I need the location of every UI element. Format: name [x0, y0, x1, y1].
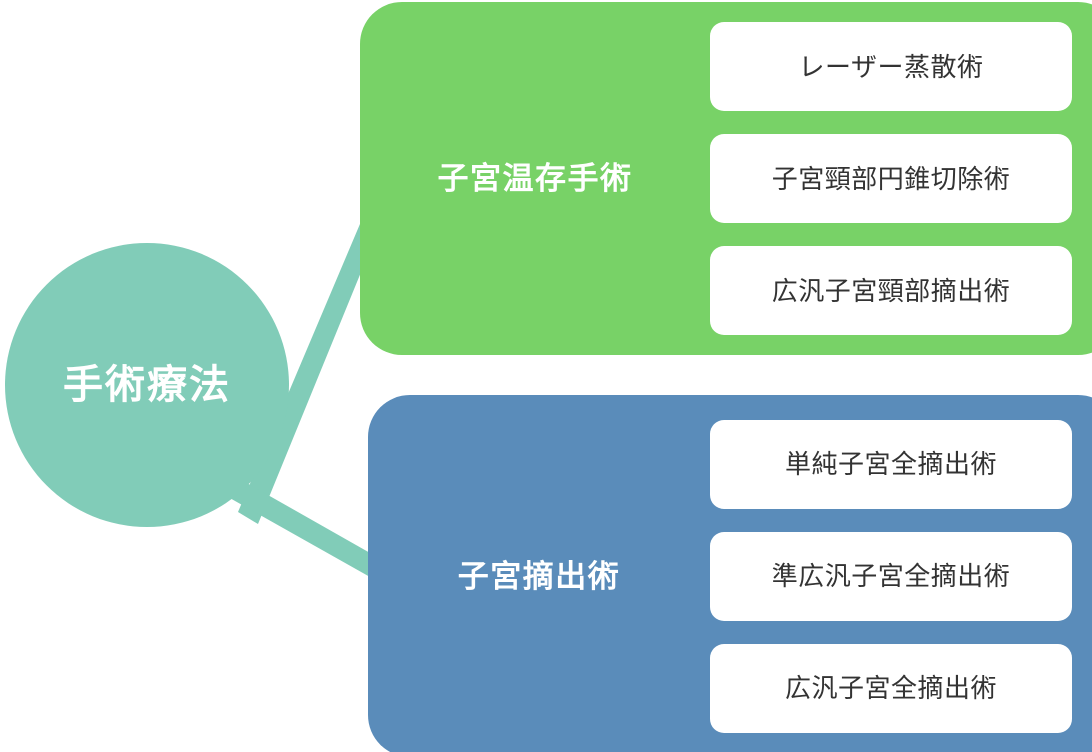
- branch-title-hysterectomy: 子宮摘出術: [368, 561, 710, 592]
- leaf-card-label: 広汎子宮頸部摘出術: [772, 278, 1011, 304]
- branch-hysterectomy[interactable]: 子宮摘出術 単純子宮全摘出術 準広汎子宮全摘出術 広汎子宮全摘出術: [368, 395, 1092, 752]
- branch-title-uterus-preserving: 子宮温存手術: [360, 163, 710, 194]
- leaf-card[interactable]: レーザー蒸散術: [710, 22, 1072, 111]
- leaf-card-label: 準広汎子宮全摘出術: [772, 563, 1011, 589]
- leaf-card[interactable]: 広汎子宮頸部摘出術: [710, 246, 1072, 335]
- leaf-card[interactable]: 単純子宮全摘出術: [710, 420, 1072, 509]
- root-node[interactable]: 手術療法: [5, 243, 289, 527]
- branch-uterus-preserving[interactable]: 子宮温存手術 レーザー蒸散術 子宮頸部円錐切除術 広汎子宮頸部摘出術: [360, 2, 1092, 355]
- leaf-card-label: 単純子宮全摘出術: [785, 451, 997, 477]
- leaf-card-label: 子宮頸部円錐切除術: [772, 166, 1011, 192]
- diagram-canvas: 手術療法 子宮温存手術 レーザー蒸散術 子宮頸部円錐切除術 広汎子宮頸部摘出術 …: [0, 0, 1092, 752]
- leaf-card-label: 広汎子宮全摘出術: [785, 675, 997, 701]
- root-node-label: 手術療法: [63, 365, 231, 405]
- leaf-card[interactable]: 子宮頸部円錐切除術: [710, 134, 1072, 223]
- leaf-stack-uterus-preserving: レーザー蒸散術 子宮頸部円錐切除術 広汎子宮頸部摘出術: [710, 22, 1072, 335]
- leaf-stack-hysterectomy: 単純子宮全摘出術 準広汎子宮全摘出術 広汎子宮全摘出術: [710, 420, 1072, 733]
- leaf-card[interactable]: 準広汎子宮全摘出術: [710, 532, 1072, 621]
- leaf-card[interactable]: 広汎子宮全摘出術: [710, 644, 1072, 733]
- leaf-card-label: レーザー蒸散術: [799, 54, 984, 80]
